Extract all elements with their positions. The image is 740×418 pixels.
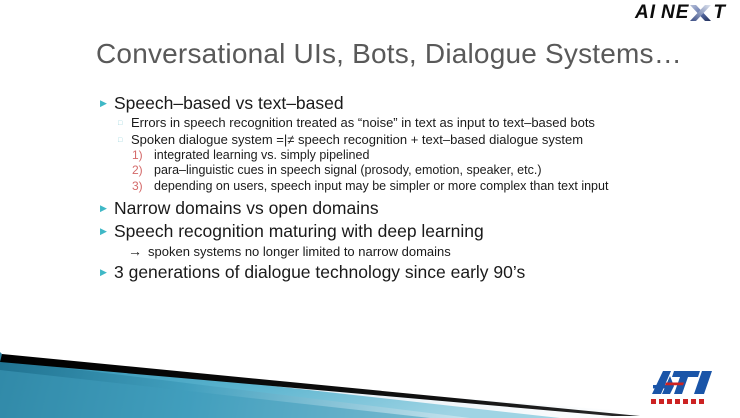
numbered-item-1: 1) integrated learning vs. simply pipeli… <box>132 148 700 163</box>
bullet-label: Speech recognition maturing with deep le… <box>114 220 700 242</box>
bullet-speech-vs-text: ▶ Speech–based vs text–based <box>100 92 700 114</box>
list-number: 2) <box>132 163 154 178</box>
numbered-item-3: 3) depending on users, speech input may … <box>132 179 700 194</box>
ati-logo <box>648 368 728 408</box>
square-bullet-icon: □ <box>118 137 131 144</box>
subbullet-label: Spoken dialogue system =|≠ speech recogn… <box>131 132 700 148</box>
bullet-label: 3 generations of dialogue technology sin… <box>114 261 700 283</box>
page-title: Conversational UIs, Bots, Dialogue Syste… <box>96 38 682 70</box>
subbullet-spoken-dialogue-equation: □ Spoken dialogue system =|≠ speech reco… <box>118 132 700 148</box>
arrow-note-spoken-systems: → spoken systems no longer limited to na… <box>128 244 700 260</box>
ai-next-logo: AINE T <box>635 2 726 24</box>
triangle-bullet-icon: ▶ <box>100 268 114 277</box>
square-bullet-icon: □ <box>118 120 131 127</box>
numbered-item-2: 2) para–linguistic cues in speech signal… <box>132 163 700 178</box>
footer-decoration <box>0 340 740 418</box>
numbered-item-label: integrated learning vs. simply pipelined <box>154 148 700 163</box>
bullet-label: Speech–based vs text–based <box>114 92 700 114</box>
bullet-label: Narrow domains vs open domains <box>114 197 700 219</box>
list-number: 3) <box>132 179 154 194</box>
arrow-right-icon: → <box>128 244 148 259</box>
triangle-bullet-icon: ▶ <box>100 227 114 236</box>
bullet-speech-recognition-deep-learning: ▶ Speech recognition maturing with deep … <box>100 220 700 242</box>
numbered-item-label: depending on users, speech input may be … <box>154 179 700 194</box>
bullet-three-generations: ▶ 3 generations of dialogue technology s… <box>100 261 700 283</box>
logo-text-ne: NE <box>661 2 689 24</box>
bullet-narrow-vs-open: ▶ Narrow domains vs open domains <box>100 197 700 219</box>
subbullet-errors-noise: □ Errors in speech recognition treated a… <box>118 115 700 131</box>
slide-header: AINE T <box>0 0 740 26</box>
logo-text-t: T <box>713 2 726 24</box>
slide-body: ▶ Speech–based vs text–based □ Errors in… <box>100 92 700 284</box>
list-number: 1) <box>132 148 154 163</box>
logo-x-icon <box>690 4 711 23</box>
triangle-bullet-icon: ▶ <box>100 99 114 108</box>
triangle-bullet-icon: ▶ <box>100 204 114 213</box>
numbered-item-label: para–linguistic cues in speech signal (p… <box>154 163 700 178</box>
slide-canvas: AINE T <box>0 0 740 418</box>
arrow-note-label: spoken systems no longer limited to narr… <box>148 244 700 260</box>
subbullet-label: Errors in speech recognition treated as … <box>131 115 700 131</box>
logo-text-ai: AI <box>635 2 656 24</box>
